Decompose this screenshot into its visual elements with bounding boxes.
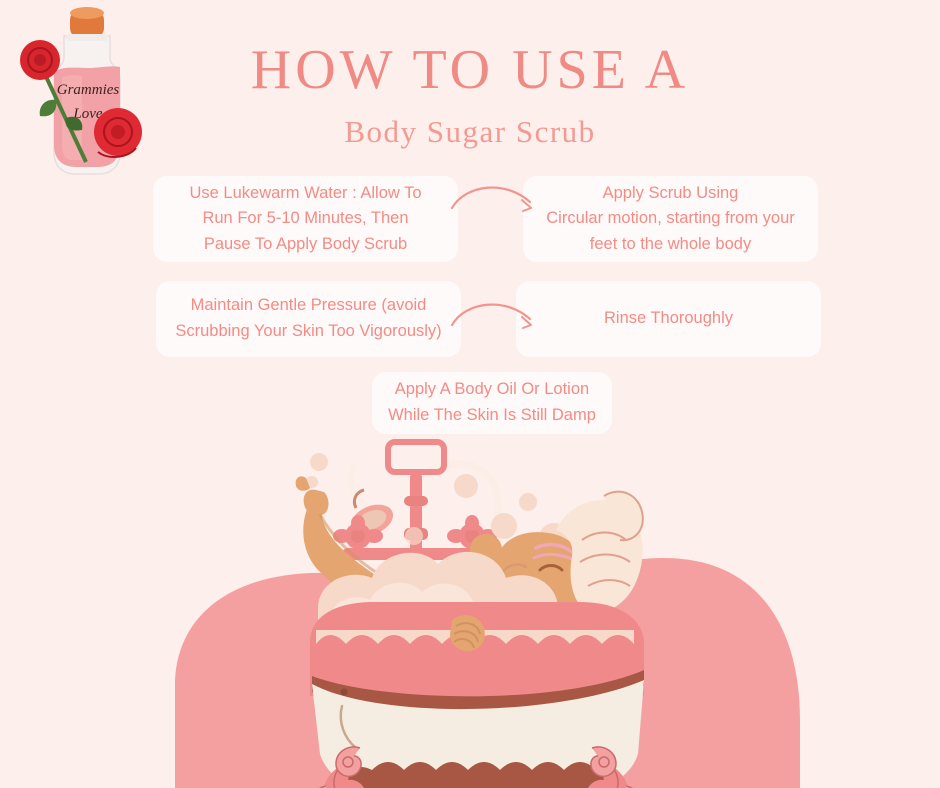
bottle-neck-ring — [66, 34, 108, 41]
step-1-line-2: Run For 5-10 Minutes, Then — [190, 206, 422, 232]
arrow-curve-2 — [452, 305, 530, 325]
arrow-step1-to-step2 — [450, 178, 550, 228]
step-5-line-1: Apply A Body Oil Or Lotion — [388, 377, 596, 403]
step-3-line-1: Maintain Gentle Pressure (avoid — [175, 293, 441, 319]
step-1-line-1: Use Lukewarm Water : Allow To — [190, 181, 422, 207]
header: HOW TO USE A Body Sugar Scrub — [0, 42, 940, 150]
shower-head-cord — [350, 464, 368, 506]
step-box-4[interactable]: Rinse Thoroughly — [516, 281, 821, 357]
arrow-step3-to-step4 — [450, 293, 550, 343]
step-5-line-2: While The Skin Is Still Damp — [388, 403, 596, 429]
step-2-line-2: Circular motion, starting from your — [546, 206, 795, 232]
page-subtitle: Body Sugar Scrub — [0, 114, 940, 150]
step-4-line-1: Rinse Thoroughly — [604, 306, 733, 332]
woman-in-bathtub-illustration — [0, 430, 940, 788]
step-1-line-3: Pause To Apply Body Scrub — [190, 232, 422, 258]
faucet-pipe-ring — [404, 496, 428, 506]
tub-rim — [310, 602, 644, 696]
step-2-line-3: feet to the whole body — [546, 232, 795, 258]
step-box-1[interactable]: Use Lukewarm Water : Allow To Run For 5-… — [153, 176, 458, 262]
tub-base-shadow — [340, 762, 620, 788]
infographic-page: Grammies Love HOW TO USE A Body Sugar Sc… — [0, 0, 940, 788]
bottle-cork-top — [70, 7, 104, 19]
step-3-line-2: Scrubbing Your Skin Too Vigorously) — [175, 319, 441, 345]
step-box-3[interactable]: Maintain Gentle Pressure (avoid Scrubbin… — [156, 281, 461, 357]
step-box-5[interactable]: Apply A Body Oil Or Lotion While The Ski… — [372, 372, 612, 434]
page-title: HOW TO USE A — [0, 42, 940, 98]
arrow-curve-1 — [452, 188, 530, 208]
tub-drain-dot — [341, 689, 348, 696]
step-box-2[interactable]: Apply Scrub Using Circular motion, start… — [523, 176, 818, 262]
step-2-line-1: Apply Scrub Using — [546, 181, 795, 207]
